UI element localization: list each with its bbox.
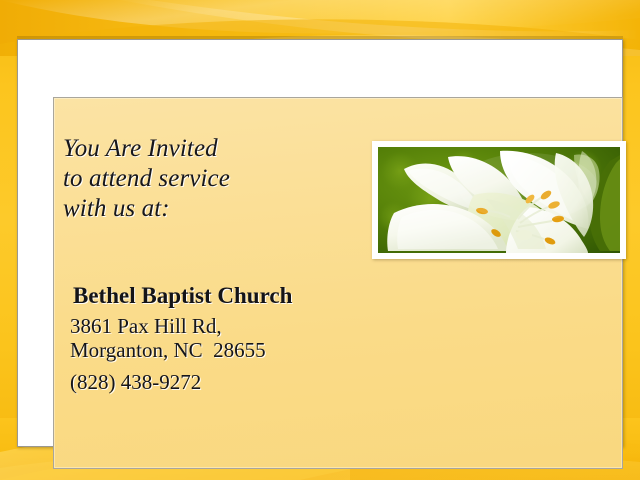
card-frame: You Are Invited to attend service with u… (17, 39, 623, 447)
content-panel: You Are Invited to attend service with u… (53, 97, 623, 469)
address-line-2: Morganton, NC 28655 (70, 338, 266, 362)
address-block: 3861 Pax Hill Rd, Morganton, NC 28655 (70, 314, 266, 362)
lily-photo-frame (372, 141, 626, 259)
content-area: You Are Invited to attend service with u… (54, 98, 624, 470)
invitation-headline: You Are Invited to attend service with u… (63, 134, 353, 224)
lily-illustration (378, 147, 620, 253)
address-line-1: 3861 Pax Hill Rd, (70, 314, 266, 338)
invitation-slide: You Are Invited to attend service with u… (0, 0, 640, 480)
headline-line-3: with us at: (63, 194, 353, 224)
organization-name: Bethel Baptist Church (73, 283, 292, 309)
lily-flower-photo (378, 147, 620, 253)
headline-line-1: You Are Invited (63, 134, 353, 164)
headline-line-2: to attend service (63, 164, 353, 194)
phone-number: (828) 438-9272 (70, 370, 201, 394)
